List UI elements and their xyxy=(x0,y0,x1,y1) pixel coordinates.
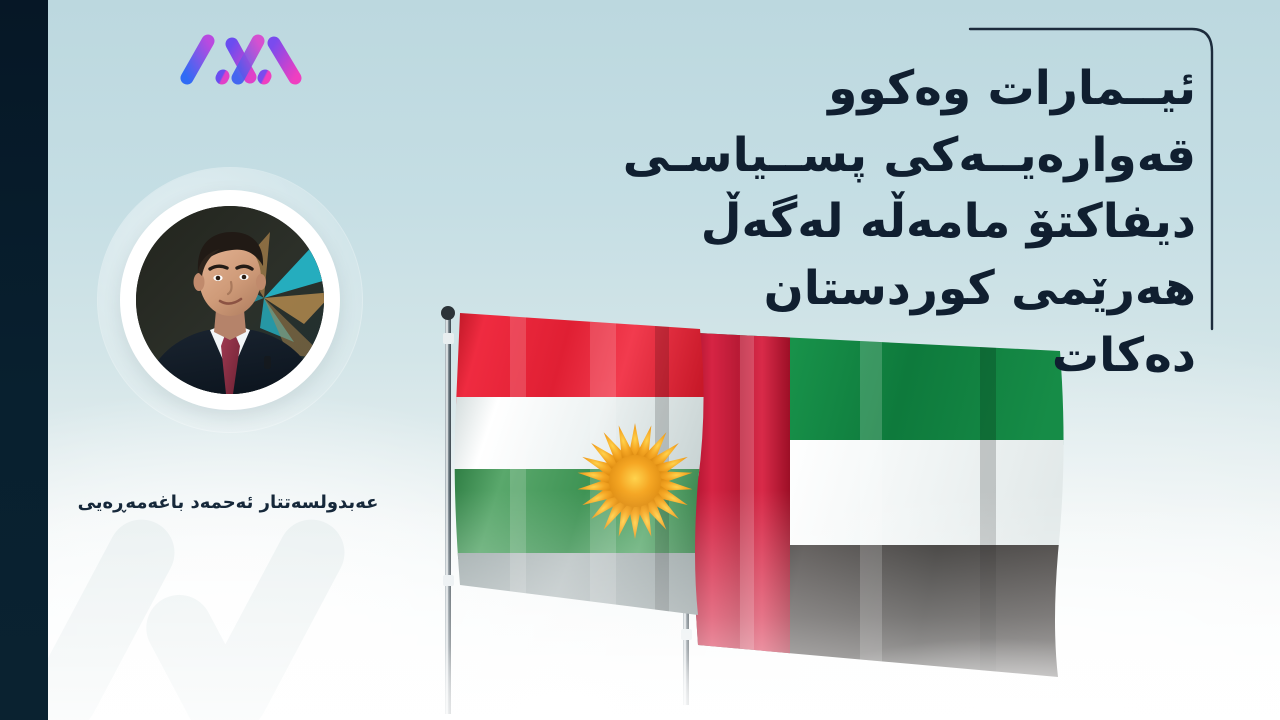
left-accent-bar xyxy=(0,0,48,720)
avatar xyxy=(136,206,324,394)
headline-line-4: هەرێمی کوردستان xyxy=(576,256,1196,323)
poster-canvas: ئیــمارات وەکوو قەوارەیــەکی پســیاسـی د… xyxy=(0,0,1280,720)
headline: ئیــمارات وەکوو قەوارەیــەکی پســیاسـی د… xyxy=(576,56,1196,390)
speaker-name: عەبدولسەتتار ئەحمەد باغەمەڕەیی xyxy=(48,492,408,513)
headline-line-5: دەکات xyxy=(576,323,1196,390)
kurdistan-flagpole xyxy=(445,319,451,714)
headline-line-2: قەوارەیــەکی پســیاسـی xyxy=(576,123,1196,190)
headline-line-1: ئیــمارات وەکوو xyxy=(576,56,1196,123)
ava-logo[interactable] xyxy=(176,30,316,86)
headline-line-3: دیفاکتۆ مامەڵە لەگەڵ xyxy=(576,189,1196,256)
speaker-portrait xyxy=(98,168,362,432)
